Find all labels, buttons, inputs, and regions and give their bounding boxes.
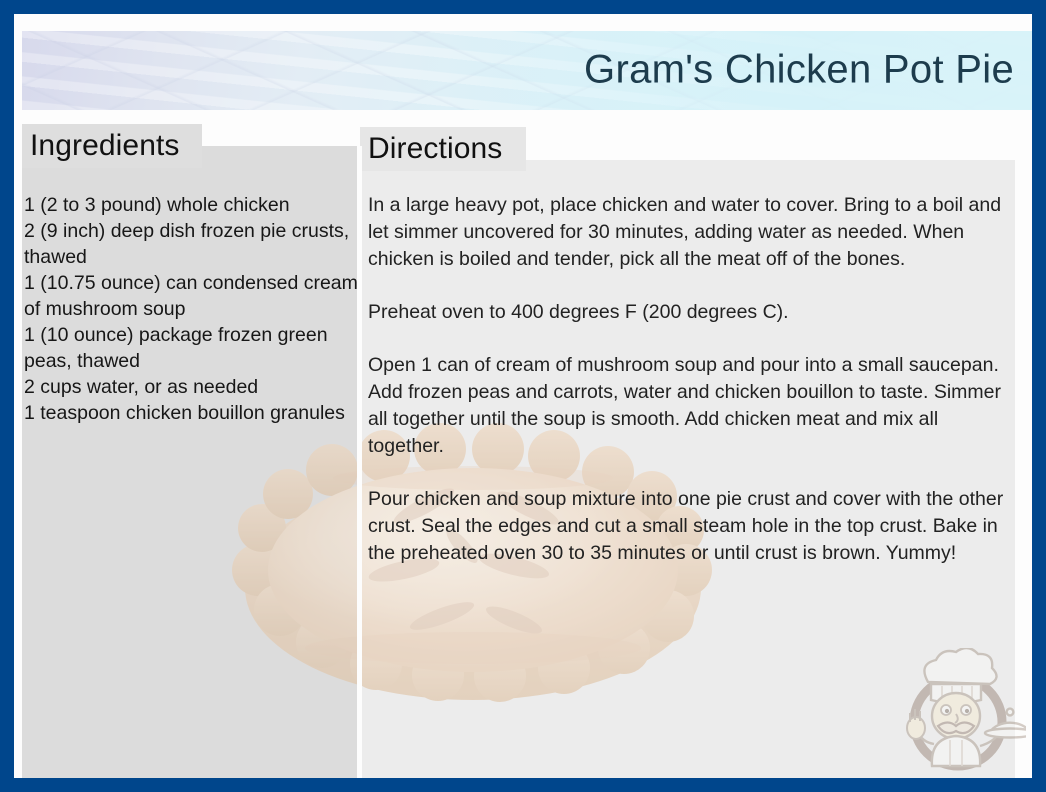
directions-list: In a large heavy pot, place chicken and … — [368, 192, 1018, 567]
directions-heading: Directions — [368, 134, 502, 164]
ingredient-item: 1 (10 ounce) package frozen green peas, … — [24, 322, 358, 374]
ingredients-heading-tab: Ingredients — [22, 124, 202, 168]
page-title: Gram's Chicken Pot Pie — [584, 47, 1014, 92]
frame-border-top — [0, 0, 1046, 14]
ingredient-item: 1 (2 to 3 pound) whole chicken — [24, 192, 358, 218]
ingredient-item: 1 teaspoon chicken bouillon granules — [24, 400, 358, 426]
ingredient-item: 2 cups water, or as needed — [24, 374, 358, 400]
title-banner: Gram's Chicken Pot Pie — [22, 31, 1032, 110]
frame-border-right — [1032, 0, 1046, 792]
frame-border-bottom — [0, 778, 1046, 792]
direction-step: Preheat oven to 400 degrees F (200 degre… — [368, 299, 1018, 326]
ingredients-list: 1 (2 to 3 pound) whole chicken 2 (9 inch… — [24, 192, 358, 426]
recipe-card: Gram's Chicken Pot Pie — [0, 0, 1046, 792]
direction-step: In a large heavy pot, place chicken and … — [368, 192, 1018, 273]
direction-step: Pour chicken and soup mixture into one p… — [368, 486, 1018, 567]
ingredient-item: 2 (9 inch) deep dish frozen pie crusts, … — [24, 218, 358, 270]
frame-border-left — [0, 0, 14, 792]
directions-heading-tab: Directions — [360, 127, 526, 171]
ingredient-item: 1 (10.75 ounce) can condensed cream of m… — [24, 270, 358, 322]
ingredients-heading: Ingredients — [30, 131, 180, 161]
direction-step: Open 1 can of cream of mushroom soup and… — [368, 352, 1018, 460]
